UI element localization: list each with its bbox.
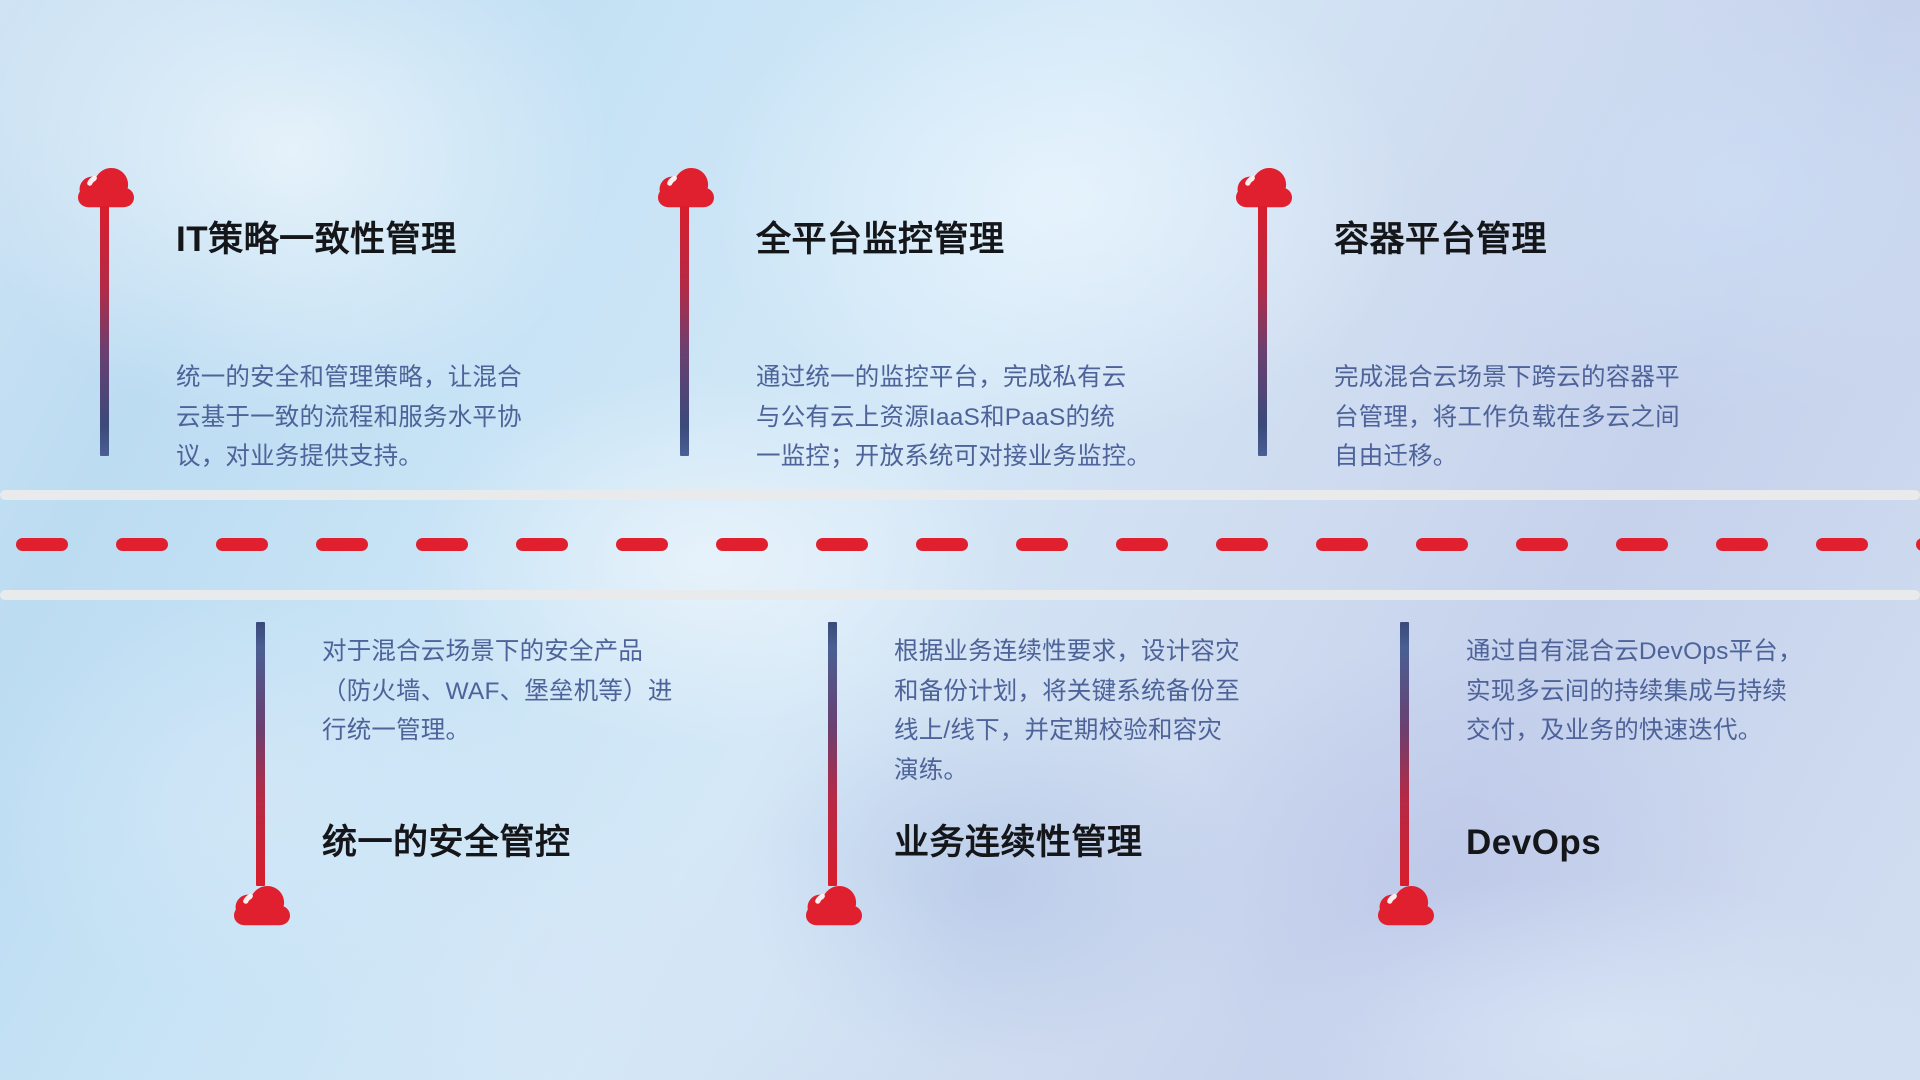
description-line: 演练。 — [894, 751, 1240, 791]
description-line: 对于混合云场景下的安全产品 — [322, 632, 673, 672]
road-dash — [1516, 538, 1568, 551]
road-dash — [1916, 538, 1920, 551]
road-dash — [1016, 538, 1068, 551]
cloud-icon — [806, 880, 868, 931]
road-dash — [316, 538, 368, 551]
item-description: 通过统一的监控平台，完成私有云与公有云上资源IaaS和PaaS的统一监控；开放系… — [756, 358, 1151, 477]
road-dash — [516, 538, 568, 551]
item-title: DevOps — [1466, 825, 1601, 860]
item-title: 业务连续性管理 — [894, 825, 1143, 860]
road-dash — [1716, 538, 1768, 551]
infographic-canvas: IT策略一致性管理统一的安全和管理策略，让混合云基于一致的流程和服务水平协议，对… — [0, 0, 1920, 1080]
road-dash — [16, 538, 68, 551]
background-bloom — [0, 520, 640, 1080]
pin-stem — [1258, 206, 1267, 456]
description-line: 与公有云上资源IaaS和PaaS的统 — [756, 398, 1151, 438]
background-bloom — [180, 760, 1080, 1080]
road-dash — [916, 538, 968, 551]
item-description: 统一的安全和管理策略，让混合云基于一致的流程和服务水平协议，对业务提供支持。 — [176, 358, 522, 477]
item-title: 容器平台管理 — [1334, 222, 1547, 257]
road-dash — [1116, 538, 1168, 551]
description-line: 行统一管理。 — [322, 711, 673, 751]
road-edge-top — [0, 490, 1920, 500]
description-line: 台管理，将工作负载在多云之间 — [1334, 398, 1680, 438]
description-line: 自由迁移。 — [1334, 437, 1680, 477]
description-line: 统一的安全和管理策略，让混合 — [176, 358, 522, 398]
description-line: 通过统一的监控平台，完成私有云 — [756, 358, 1151, 398]
pin-stem — [1400, 622, 1409, 886]
pin-stem — [680, 206, 689, 456]
road-dash — [1816, 538, 1868, 551]
road-dash — [616, 538, 668, 551]
item-description: 通过自有混合云DevOps平台，实现多云间的持续集成与持续交付，及业务的快速迭代… — [1466, 632, 1803, 751]
road-dash — [116, 538, 168, 551]
road-dash — [1316, 538, 1368, 551]
description-line: 根据业务连续性要求，设计容灾 — [894, 632, 1240, 672]
item-title: IT策略一致性管理 — [176, 222, 457, 257]
description-line: （防火墙、WAF、堡垒机等）进 — [322, 672, 673, 712]
road-dash — [816, 538, 868, 551]
road-dash — [1616, 538, 1668, 551]
item-title: 全平台监控管理 — [756, 222, 1005, 257]
item-description: 对于混合云场景下的安全产品（防火墙、WAF、堡垒机等）进行统一管理。 — [322, 632, 673, 751]
pin-stem — [828, 622, 837, 886]
description-line: 交付，及业务的快速迭代。 — [1466, 711, 1803, 751]
road-dash — [1216, 538, 1268, 551]
road-dash — [1416, 538, 1468, 551]
road-dash — [716, 538, 768, 551]
description-line: 一监控；开放系统可对接业务监控。 — [756, 437, 1151, 477]
cloud-icon — [658, 162, 720, 213]
road-dash — [216, 538, 268, 551]
cloud-icon — [78, 162, 140, 213]
cloud-icon — [1378, 880, 1440, 931]
description-line: 实现多云间的持续集成与持续 — [1466, 672, 1803, 712]
road-edge-bottom — [0, 590, 1920, 600]
pin-stem — [100, 206, 109, 456]
description-line: 通过自有混合云DevOps平台， — [1466, 632, 1803, 672]
cloud-icon — [234, 880, 296, 931]
description-line: 议，对业务提供支持。 — [176, 437, 522, 477]
pin-stem — [256, 622, 265, 886]
cloud-icon — [1236, 162, 1298, 213]
item-description: 根据业务连续性要求，设计容灾和备份计划，将关键系统备份至线上/线下，并定期校验和… — [894, 632, 1240, 791]
description-line: 云基于一致的流程和服务水平协 — [176, 398, 522, 438]
item-title: 统一的安全管控 — [322, 825, 571, 860]
description-line: 和备份计划，将关键系统备份至 — [894, 672, 1240, 712]
description-line: 完成混合云场景下跨云的容器平 — [1334, 358, 1680, 398]
description-line: 线上/线下，并定期校验和容灾 — [894, 711, 1240, 751]
item-description: 完成混合云场景下跨云的容器平台管理，将工作负载在多云之间自由迁移。 — [1334, 358, 1680, 477]
road-dash — [416, 538, 468, 551]
road-dash-line — [0, 538, 1920, 551]
